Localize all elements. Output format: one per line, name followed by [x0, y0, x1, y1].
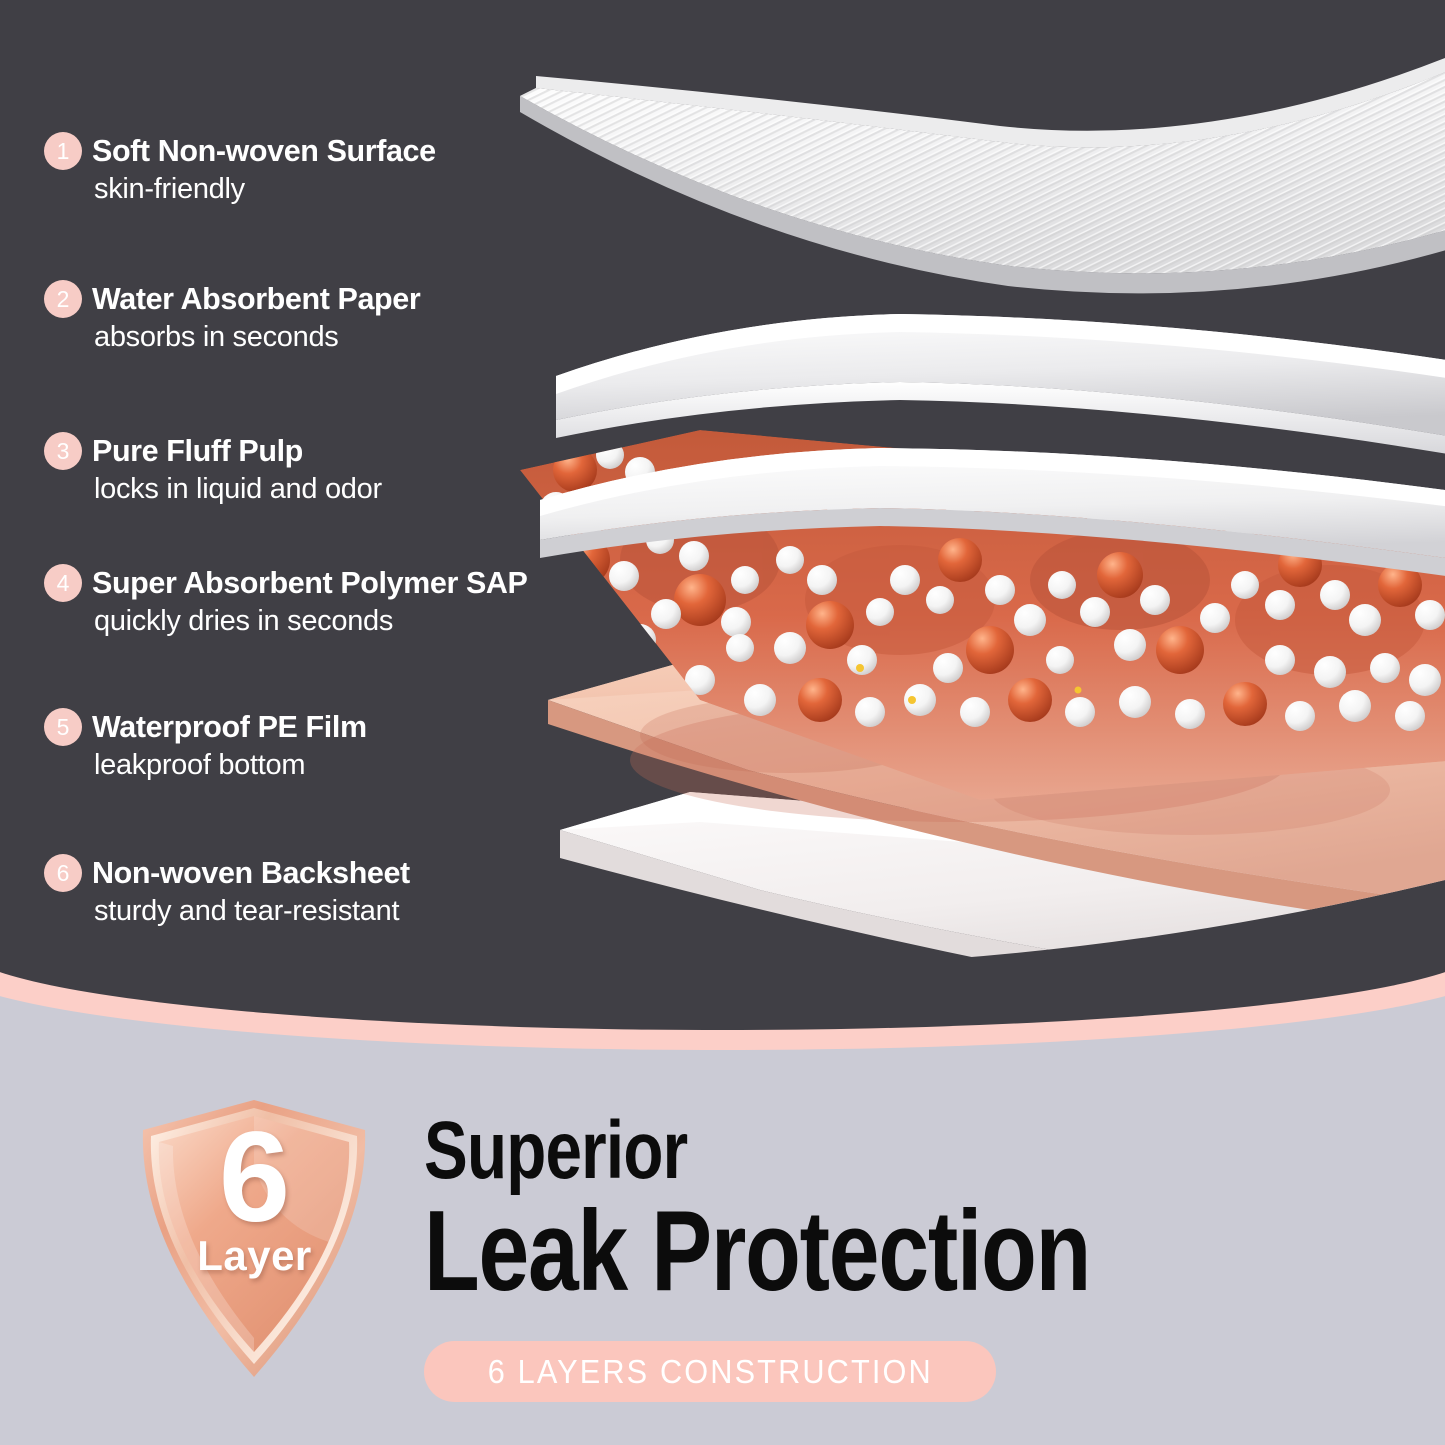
- layer-item-5: 5 Waterproof PE Film leakproof bottom: [44, 708, 367, 782]
- layer-subtitle-3: locks in liquid and odor: [94, 473, 382, 506]
- layer-number-badge-2: 2: [44, 280, 82, 318]
- layer-item-4: 4 Super Absorbent Polymer SAP quickly dr…: [44, 564, 528, 638]
- layer-item-6: 6 Non-woven Backsheet sturdy and tear-re…: [44, 854, 410, 928]
- layers-construction-label: 6 LAYERS CONSTRUCTION: [487, 1353, 932, 1391]
- layer-subtitle-4: quickly dries in seconds: [94, 605, 528, 638]
- layers-construction-badge: 6 LAYERS CONSTRUCTION: [424, 1341, 996, 1402]
- banner-headline: Superior Leak Protection: [424, 1112, 1294, 1308]
- infographic-stage: 1 Soft Non-woven Surface skin-friendly 2…: [0, 0, 1445, 1445]
- layer-subtitle-5: leakproof bottom: [94, 749, 367, 782]
- layer-item-2-heading: 2 Water Absorbent Paper: [44, 280, 420, 318]
- layer-item-1-heading: 1 Soft Non-woven Surface: [44, 132, 436, 170]
- headline-line-1: Superior: [424, 1112, 1120, 1190]
- layer-number-badge-3: 3: [44, 432, 82, 470]
- layer-title-5: Waterproof PE Film: [92, 710, 367, 745]
- shield-icon: [133, 1096, 376, 1381]
- layer-item-6-heading: 6 Non-woven Backsheet: [44, 854, 410, 892]
- layer-item-3-heading: 3 Pure Fluff Pulp: [44, 432, 382, 470]
- layer-item-3: 3 Pure Fluff Pulp locks in liquid and od…: [44, 432, 382, 506]
- layer-item-2: 2 Water Absorbent Paper absorbs in secon…: [44, 280, 420, 354]
- layer-number-badge-6: 6: [44, 854, 82, 892]
- layer-subtitle-2: absorbs in seconds: [94, 321, 420, 354]
- headline-line-2: Leak Protection: [424, 1196, 1120, 1308]
- layer-title-2: Water Absorbent Paper: [92, 282, 420, 317]
- six-layer-shield-badge: 6 Layer: [133, 1096, 376, 1381]
- layer-number-badge-5: 5: [44, 708, 82, 746]
- layer-title-3: Pure Fluff Pulp: [92, 434, 303, 469]
- layer-subtitle-1: skin-friendly: [94, 173, 436, 206]
- layer-title-1: Soft Non-woven Surface: [92, 134, 436, 169]
- layer-title-6: Non-woven Backsheet: [92, 856, 410, 891]
- layer-item-1: 1 Soft Non-woven Surface skin-friendly: [44, 132, 436, 206]
- layer-subtitle-6: sturdy and tear-resistant: [94, 895, 410, 928]
- layer-number-badge-4: 4: [44, 564, 82, 602]
- layer-item-4-heading: 4 Super Absorbent Polymer SAP: [44, 564, 528, 602]
- layer-item-5-heading: 5 Waterproof PE Film: [44, 708, 367, 746]
- layer-title-4: Super Absorbent Polymer SAP: [92, 566, 528, 601]
- non-woven-surface-sheet: [520, 52, 1445, 293]
- layer-number-badge-1: 1: [44, 132, 82, 170]
- top-dark-panel: 1 Soft Non-woven Surface skin-friendly 2…: [0, 0, 1445, 1050]
